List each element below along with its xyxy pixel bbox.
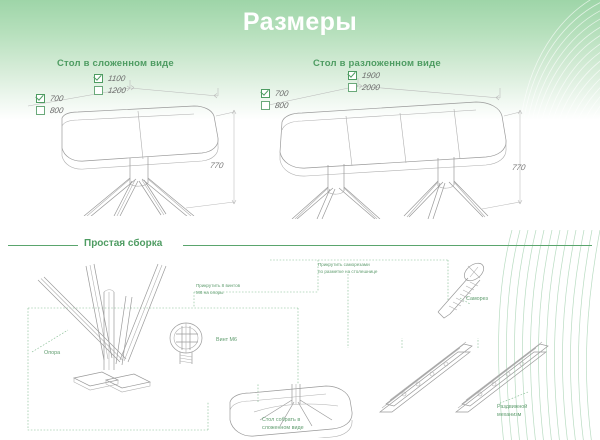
label-support: Опора: [44, 350, 60, 358]
label-self-tapping-screw: Саморез: [466, 296, 488, 304]
extended-height-dimension: 770: [511, 163, 526, 172]
annotation-screws-m6: Прикрутить 8 винтов М6 на опоры: [196, 283, 240, 296]
option-label: 1200: [107, 86, 126, 95]
option-row[interactable]: 800: [261, 100, 288, 111]
checkbox-unchecked-icon[interactable]: [261, 101, 270, 110]
label-assemble-folded-note: Стол собрать в сложенном виде: [262, 417, 304, 433]
option-label: 800: [49, 106, 64, 115]
label-extension-mechanism: Раздвижной механизм: [497, 404, 527, 420]
extended-table-drawing: [262, 64, 542, 219]
assembly-title: Простая сборка: [84, 238, 162, 249]
option-label: 1900: [361, 71, 380, 80]
folded-length-options: 1100 1200: [94, 73, 126, 97]
folded-width-options: 700 800: [36, 93, 63, 117]
checkbox-unchecked-icon[interactable]: [94, 86, 103, 95]
folded-table-drawing: [26, 66, 266, 216]
assembly-section-header: Простая сборка: [8, 238, 592, 252]
divider-left: [8, 245, 78, 246]
checkbox-checked-icon[interactable]: [261, 89, 270, 98]
checkbox-unchecked-icon[interactable]: [36, 106, 45, 115]
option-row[interactable]: 800: [36, 105, 63, 116]
instruction-sheet: Размеры: [0, 0, 600, 440]
folded-height-dimension: 770: [209, 161, 224, 170]
option-row[interactable]: 1900: [348, 70, 380, 81]
checkbox-checked-icon[interactable]: [348, 71, 357, 80]
option-row[interactable]: 700: [261, 88, 288, 99]
extended-length-options: 1900 2000: [348, 70, 380, 94]
checkbox-checked-icon[interactable]: [94, 74, 103, 83]
option-label: 700: [274, 89, 289, 98]
option-row[interactable]: 700: [36, 93, 63, 104]
label-bolt-m6: Винт М6: [216, 337, 237, 345]
divider-right: [183, 245, 592, 246]
option-label: 700: [49, 94, 64, 103]
option-row[interactable]: 2000: [348, 82, 380, 93]
checkbox-unchecked-icon[interactable]: [348, 83, 357, 92]
checkbox-checked-icon[interactable]: [36, 94, 45, 103]
option-label: 2000: [361, 83, 380, 92]
option-label: 1100: [107, 74, 126, 83]
extended-width-options: 700 800: [261, 88, 288, 112]
annotation-self-tapping-screws: Прикрутить саморезами по разметке на сто…: [318, 262, 377, 275]
option-label: 800: [274, 101, 289, 110]
option-row[interactable]: 1200: [94, 85, 126, 96]
option-row[interactable]: 1100: [94, 73, 126, 84]
